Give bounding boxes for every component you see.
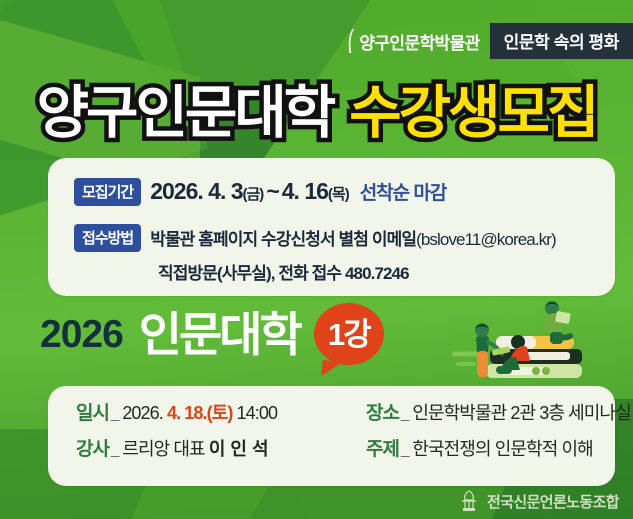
application-method-desc: 박물관 홈페이지 수강신청서 별첨 [150, 230, 372, 249]
main-title: 양구인문대학 수강생모집 [0, 74, 633, 152]
union-emblem-icon [458, 489, 480, 513]
recruitment-period-row: 모집기간 2026. 4. 3(금)~4. 16(목) 선착순 마감 [48, 178, 615, 208]
footer-credit: 전국신문언론노동조합 [458, 489, 619, 513]
dash-separator-icon: _ [399, 441, 412, 458]
lecture-number-badge: 1강 [314, 303, 384, 365]
course-name: 인문대학 [139, 311, 300, 358]
period-end: 4. 16 [282, 178, 328, 204]
application-method-row-2: 직접방문(사무실), 전화 접수 480.7246 [48, 259, 615, 284]
recruitment-period-note: 선착순 마감 [360, 178, 447, 205]
footer-org-name: 전국신문언론노동조합 [487, 491, 619, 512]
detail-cell-topic: 주제 _ 한국전쟁의 인문학적 이해 [366, 434, 593, 461]
dash-separator-icon: _ [109, 441, 122, 458]
people-reading-on-books-illustration [452, 292, 602, 384]
date-value-time: 14:00 [232, 403, 277, 423]
place-label: 장소 [366, 398, 399, 425]
application-method-line2: 직접방문(사무실), 전화 접수 480.7246 [158, 264, 409, 283]
course-headline: 2026 인문대학 1강 [40, 298, 384, 370]
leaf-stroke-icon [346, 28, 355, 54]
info-panel: 모집기간 2026. 4. 3(금)~4. 16(목) 선착순 마감 접수방법 … [48, 158, 615, 296]
recruitment-period-value: 2026. 4. 3(금)~4. 16(목) [150, 178, 349, 205]
lecturer-label: 강사 [76, 434, 109, 461]
recruitment-period-tag: 모집기간 [74, 178, 141, 206]
application-method-row: 접수방법 박물관 홈페이지 수강신청서 별첨 이메일(bslove11@kore… [48, 225, 615, 254]
detail-cell-place: 장소 _ 인문학박물관 2관 3층 세미나실 [366, 398, 631, 425]
lecturer-org: 르리앙 대표 [122, 439, 209, 459]
speech-bubble-tail-icon [321, 360, 343, 378]
topic-label: 주제 [366, 434, 399, 461]
period-start-day: (금) [243, 186, 264, 203]
museum-brand: 양구인문학박물관 [346, 28, 479, 54]
lecture-number-label: 1강 [328, 319, 370, 350]
detail-row-schedule: 일시 _ 2026. 4. 18.(토) 14:00 장소 _ 인문학박물관 2… [76, 398, 615, 425]
detail-grid: 일시 _ 2026. 4. 18.(토) 14:00 장소 _ 인문학박물관 2… [48, 386, 615, 486]
application-method-line1: 박물관 홈페이지 수강신청서 별첨 이메일(bslove11@korea.kr) [150, 225, 556, 250]
period-end-day: (목) [328, 186, 349, 203]
application-method-email-label: 이메일 [372, 230, 416, 249]
detail-cell-date: 일시 _ 2026. 4. 18.(토) 14:00 [76, 398, 366, 425]
poster-header: 양구인문학박물관 인문학 속의 평화 [0, 24, 633, 58]
title-part-institution: 양구인문대학 [37, 85, 334, 142]
lecturer-value: 르리앙 대표 이 인 석 [122, 435, 268, 461]
theme-badge: 인문학 속의 평화 [490, 23, 633, 59]
date-value-prefix: 2026. [122, 403, 167, 423]
application-method-email: (bslove11@korea.kr) [416, 230, 556, 249]
date-label: 일시 [76, 398, 109, 425]
dash-separator-icon: _ [399, 405, 412, 422]
detail-row-lecturer: 강사 _ 르리앙 대표 이 인 석 주제 _ 한국전쟁의 인문학적 이해 [76, 434, 615, 461]
poster-root: 양구인문학박물관 인문학 속의 평화 양구인문대학 수강생모집 모집기간 202… [0, 0, 633, 519]
period-separator: ~ [263, 178, 281, 204]
museum-name: 양구인문학박물관 [359, 29, 479, 54]
lecturer-name: 이 인 석 [209, 439, 269, 459]
detail-panel: 일시 _ 2026. 4. 18.(토) 14:00 장소 _ 인문학박물관 2… [48, 386, 615, 486]
application-method-tag: 접수방법 [74, 224, 141, 252]
detail-cell-lecturer: 강사 _ 르리앙 대표 이 인 석 [76, 434, 366, 461]
date-value-accent: 4. 18.(토) [167, 403, 232, 423]
place-value: 인문학박물관 2관 3층 세미나실 [412, 399, 630, 425]
dash-separator-icon: _ [109, 405, 122, 422]
title-part-recruitment: 수강생모집 [349, 85, 596, 142]
topic-value: 한국전쟁의 인문학적 이해 [412, 435, 592, 461]
course-year: 2026 [40, 315, 123, 354]
date-value: 2026. 4. 18.(토) 14:00 [122, 399, 277, 425]
period-start: 2026. 4. 3 [150, 178, 242, 204]
